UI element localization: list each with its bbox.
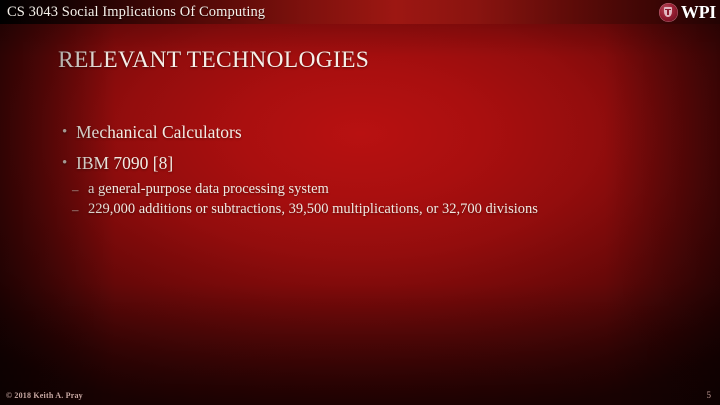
sub-list-item: – 229,000 additions or subtractions, 39,…	[60, 200, 660, 219]
sub-list-item-label: 229,000 additions or subtractions, 39,50…	[88, 201, 538, 217]
list-item-label: IBM 7090 [8]	[76, 153, 173, 173]
wpi-wordmark-text: WPI	[681, 3, 716, 22]
list-item: • Mechanical Calculators	[60, 117, 660, 148]
wpi-seal-icon	[659, 3, 678, 22]
shield-icon	[664, 7, 672, 17]
course-title: CS 3043 Social Implications Of Computing	[7, 2, 265, 22]
sub-list-item: – a general-purpose data processing syst…	[60, 180, 660, 199]
dash-icon: –	[72, 200, 79, 219]
wpi-logo: WPI	[659, 1, 716, 23]
footer-copyright: © 2018 Keith A. Pray	[6, 391, 83, 400]
page-title: RELEVANT TECHNOLOGIES	[58, 47, 369, 74]
list-item-label: Mechanical Calculators	[76, 122, 242, 142]
page-number: 5	[707, 390, 712, 400]
presentation-slide: CS 3043 Social Implications Of Computing…	[0, 0, 720, 405]
slide-header-bar: CS 3043 Social Implications Of Computing…	[0, 0, 720, 24]
list-item: • IBM 7090 [8]	[60, 148, 660, 179]
sub-list-item-label: a general-purpose data processing system	[88, 181, 329, 197]
slide-body: • Mechanical Calculators • IBM 7090 [8] …	[60, 117, 660, 219]
bullet-icon: •	[62, 117, 67, 148]
bullet-icon: •	[62, 148, 67, 179]
dash-icon: –	[72, 180, 79, 199]
